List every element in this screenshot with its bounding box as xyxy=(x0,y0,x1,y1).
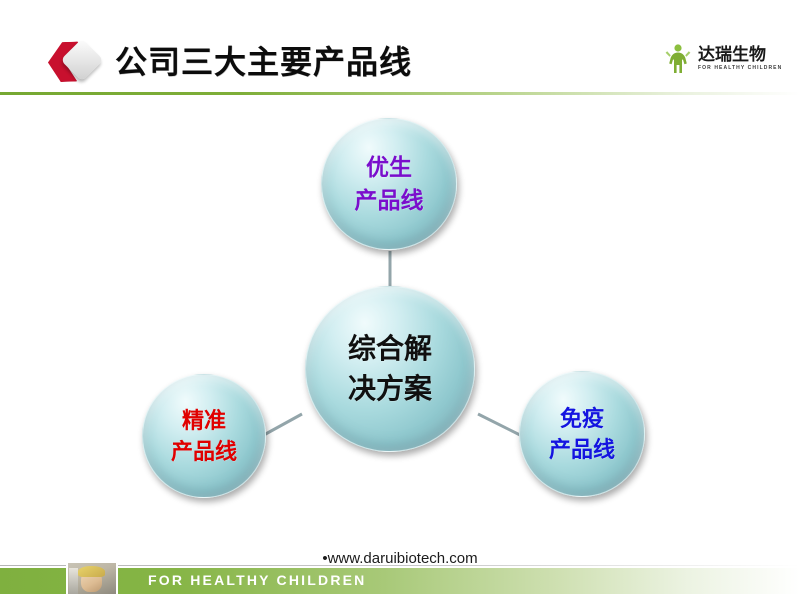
node-center-solution[interactable]: 综合解 决方案 xyxy=(305,286,475,452)
photo-equipment xyxy=(69,568,78,594)
node-center-line2: 决方案 xyxy=(348,369,432,409)
node-right-line1: 免疫 xyxy=(560,403,604,434)
node-right-immunity[interactable]: 免疫 产品线 xyxy=(519,371,645,497)
node-center-line1: 综合解 xyxy=(348,329,432,369)
footer-divider xyxy=(0,565,800,566)
photo-hair xyxy=(78,566,105,577)
node-left-precision[interactable]: 精准 产品线 xyxy=(142,374,266,498)
node-top-line1: 优生 xyxy=(366,151,412,184)
page-title: 公司三大主要产品线 xyxy=(115,40,412,84)
node-left-line1: 精准 xyxy=(182,405,226,436)
connector-center-left xyxy=(262,414,302,436)
green-child-figure-icon xyxy=(664,42,692,74)
slide-header: 公司三大主要产品线 达瑞生物 FOR HEALTHY CHILDREN xyxy=(0,0,800,96)
slide: 公司三大主要产品线 达瑞生物 FOR HEALTHY CHILDREN xyxy=(0,0,800,594)
lab-scientist-photo xyxy=(66,563,118,594)
header-divider xyxy=(0,92,800,95)
brand-text: 达瑞生物 FOR HEALTHY CHILDREN xyxy=(698,46,782,71)
red-chevron-diamond-icon xyxy=(48,38,108,86)
node-right-line2: 产品线 xyxy=(549,434,615,465)
node-left-line2: 产品线 xyxy=(171,436,237,467)
footer-tagline: FOR HEALTHY CHILDREN xyxy=(148,572,366,588)
brand-name-cn: 达瑞生物 xyxy=(698,46,782,63)
brand-logo: 达瑞生物 FOR HEALTHY CHILDREN xyxy=(664,36,792,80)
brand-tagline-en: FOR HEALTHY CHILDREN xyxy=(698,66,782,71)
footer-green-bar xyxy=(0,568,800,594)
node-top-youshng[interactable]: 优生 产品线 xyxy=(321,118,457,250)
connector-center-right xyxy=(478,414,522,436)
node-top-line2: 产品线 xyxy=(355,184,424,217)
product-lines-diagram: 优生 产品线 综合解 决方案 免疫 产品线 精准 产品线 xyxy=(0,96,800,536)
